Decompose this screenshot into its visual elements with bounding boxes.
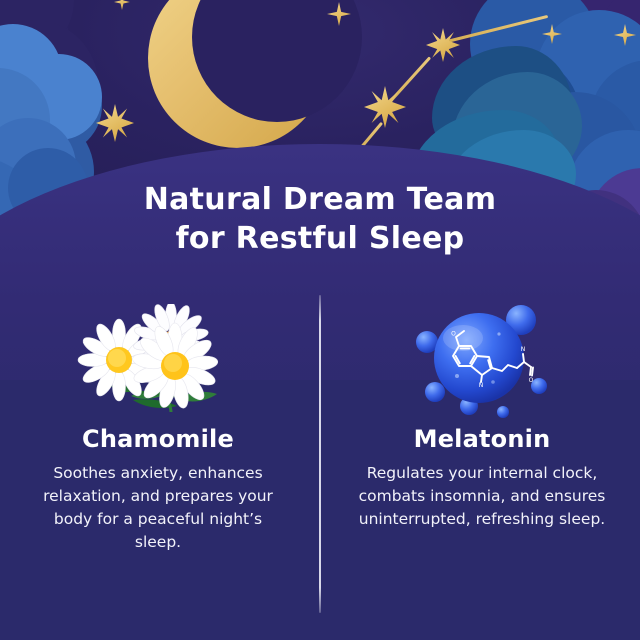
atom-label-O: O xyxy=(451,331,456,338)
bubble xyxy=(497,406,509,418)
bubble xyxy=(531,378,547,394)
melatonin-description: Regulates your internal clock, combats i… xyxy=(356,462,608,531)
vertical-divider xyxy=(319,295,321,613)
chamomile-heading: Chamomile xyxy=(8,424,308,454)
crescent-moon-icon xyxy=(148,0,328,148)
page-title: Natural Dream Team for Restful Sleep xyxy=(0,180,640,258)
chamomile-description: Soothes anxiety, enhances relaxation, an… xyxy=(32,462,284,554)
atom-label-O: O xyxy=(529,377,534,384)
melatonin-art: O N N O xyxy=(332,300,632,420)
chamomile-flowers-icon xyxy=(73,304,243,422)
atom-label-N: N xyxy=(521,346,526,353)
melatonin-heading: Melatonin xyxy=(332,424,632,454)
title-line-1: Natural Dream Team xyxy=(144,182,497,217)
bubble xyxy=(425,382,445,402)
bubble xyxy=(416,331,438,353)
chamomile-art xyxy=(8,300,308,420)
title-line-2: for Restful Sleep xyxy=(0,219,640,258)
atom-label-N: N xyxy=(479,382,484,389)
sleep-infographic-poster: Natural Dream Team for Restful Sleep xyxy=(0,0,640,640)
column-melatonin: O N N O Melatonin Regulates your interna… xyxy=(332,300,632,531)
molecule-sphere xyxy=(434,313,524,403)
melatonin-molecule-icon: O N N O xyxy=(407,300,557,418)
column-chamomile: Chamomile Soothes anxiety, enhances rela… xyxy=(8,300,308,554)
